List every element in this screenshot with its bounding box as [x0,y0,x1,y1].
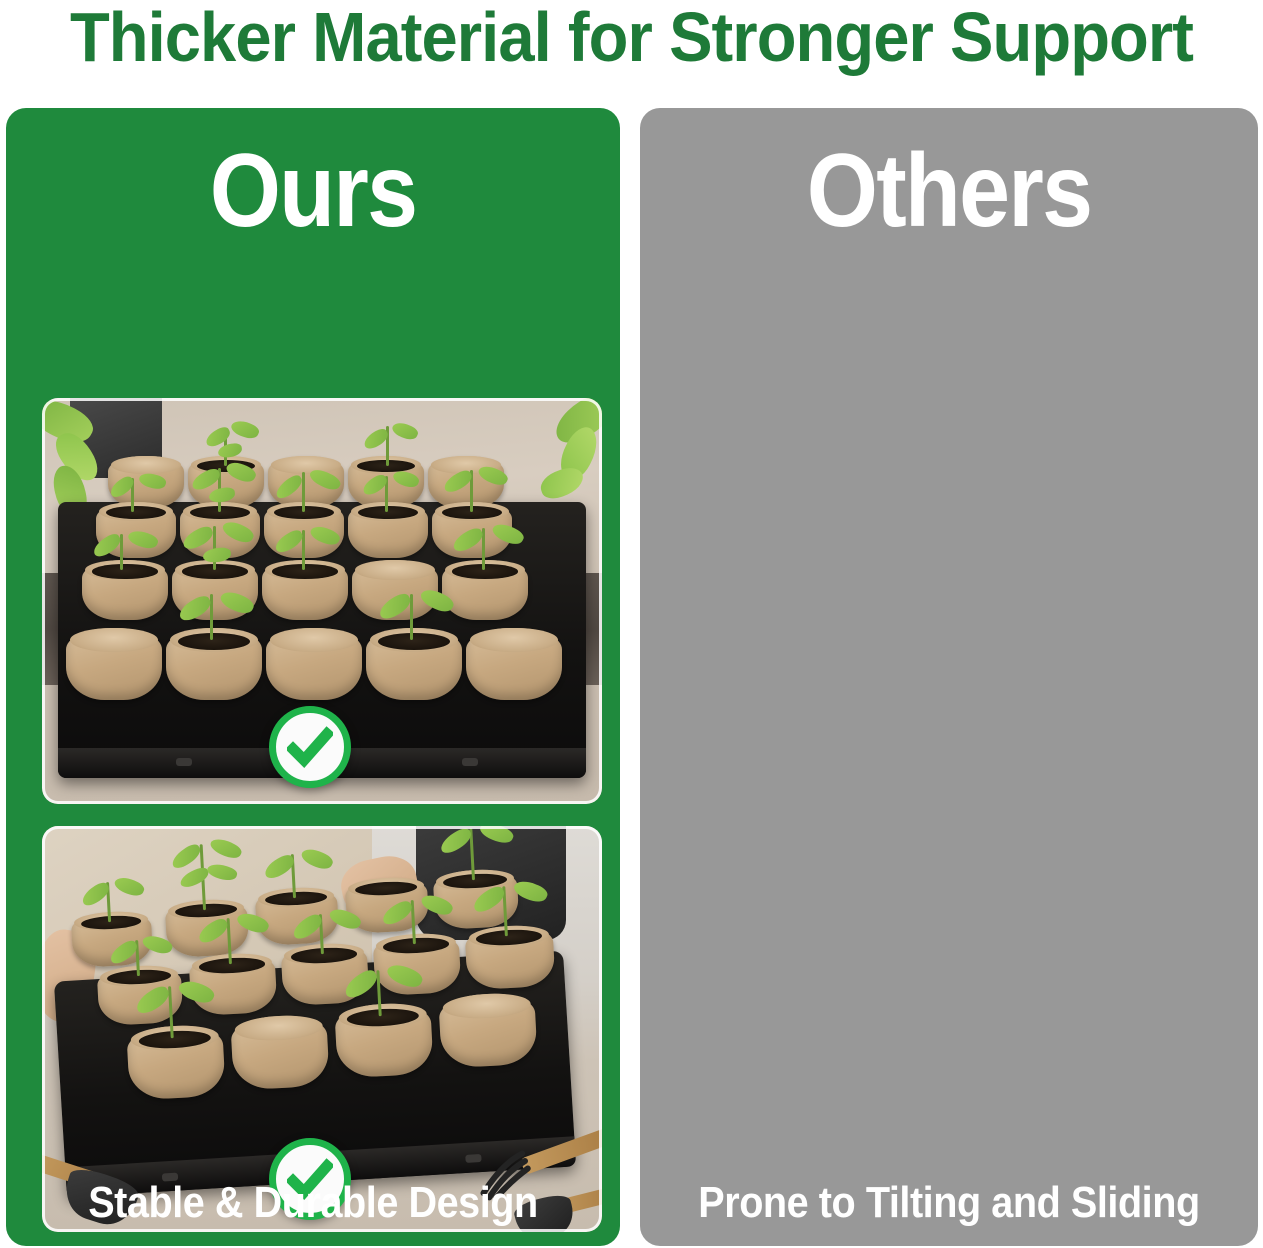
check-icon [287,724,333,770]
others-caption: Prone to Tilting and Sliding [671,1160,1227,1246]
panel-ours: Ours [6,108,620,1246]
check-badge [269,706,351,788]
page-title: Thicker Material for Stronger Support [44,0,1219,76]
ours-photo-tray-of-peat-pots [42,398,602,804]
comparison-infographic: Thicker Material for Stronger Support Ou… [0,0,1263,1248]
panel-others: Others [640,108,1258,1246]
ours-caption: Stable & Durable Design [37,1160,590,1246]
panel-others-title: Others [677,138,1221,244]
panel-ours-title: Ours [43,138,583,244]
